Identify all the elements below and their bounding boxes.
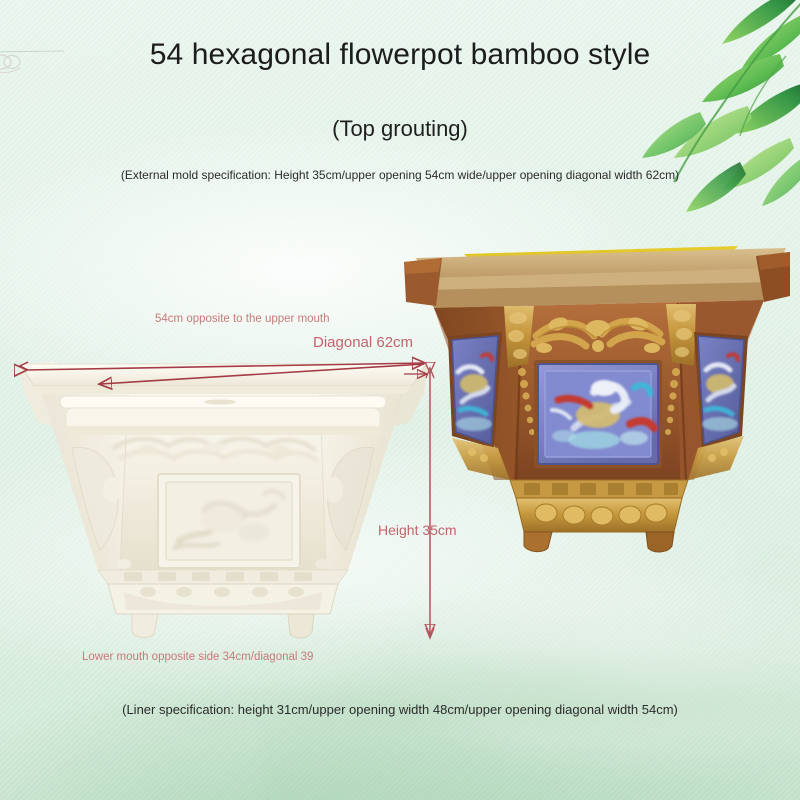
annotation-lower-mouth: Lower mouth opposite side 34cm/diagonal … [82, 651, 313, 663]
background-hill-mid [260, 660, 800, 800]
external-mold-specification: (External mold specification: Height 35c… [0, 168, 800, 182]
white-flowerpot-image [8, 352, 438, 642]
bamboo-leaves-decoration [550, 0, 800, 216]
annotation-height: Height 35cm [378, 522, 457, 538]
annotation-diagonal: Diagonal 62cm [313, 334, 413, 351]
background-mist-lower [380, 560, 800, 790]
annotation-upper-mouth-opposite: 54cm opposite to the upper mouth [155, 313, 330, 325]
colored-flowerpot-image [398, 232, 798, 562]
page-title: 54 hexagonal flowerpot bamboo style [0, 38, 800, 72]
page-subtitle: (Top grouting) [0, 116, 800, 142]
product-detail-image: 54 hexagonal flowerpot bamboo style (Top… [0, 0, 800, 800]
liner-specification: (Liner specification: height 31cm/upper … [0, 702, 800, 717]
